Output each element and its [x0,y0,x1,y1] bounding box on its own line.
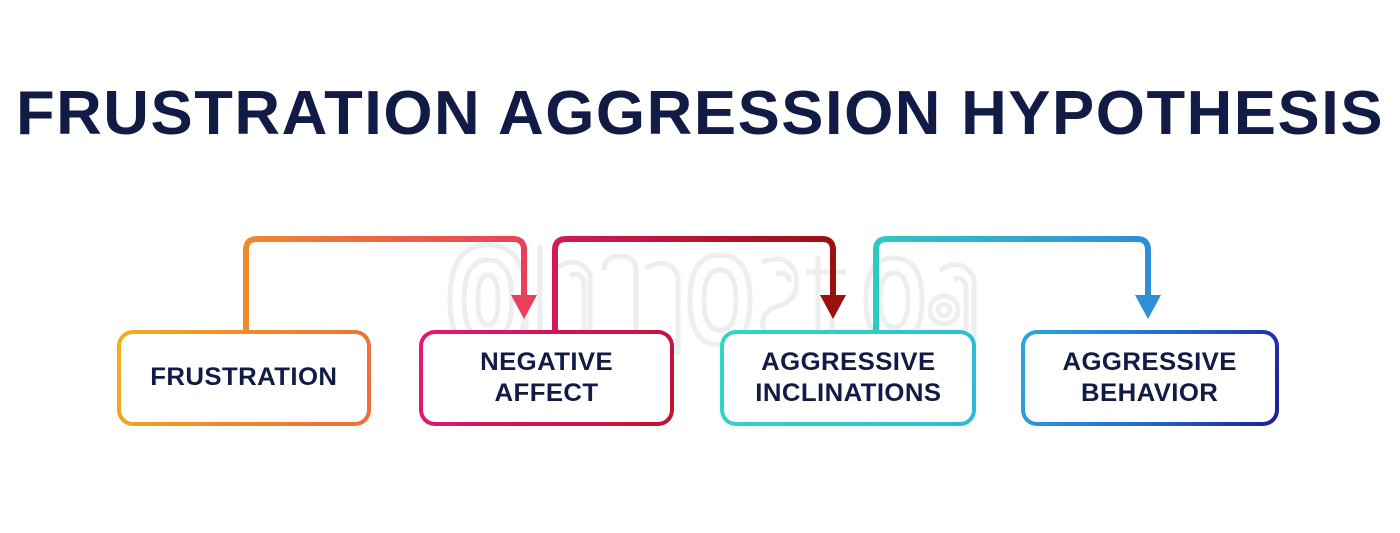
connector-frustration-to-negative-affect [246,239,537,332]
connector-layer [0,0,1400,533]
node-frustration-body: FRUSTRATION [121,334,367,422]
diagram-canvas: FRUSTRATION AGGRESSION HYPOTHESIS [0,0,1400,533]
node-negative-affect-label: NEGATIVE AFFECT [480,347,613,410]
node-aggressive-inclinations-label: AGGRESSIVE INCLINATIONS [755,347,941,410]
node-aggressive-behavior-body: AGGRESSIVE BEHAVIOR [1025,334,1275,422]
node-negative-affect[interactable]: NEGATIVE AFFECT [419,330,674,426]
connector-negative-affect-to-aggressive-inclinations [555,239,846,332]
node-negative-affect-body: NEGATIVE AFFECT [423,334,670,422]
node-frustration[interactable]: FRUSTRATION [117,330,371,426]
node-frustration-label: FRUSTRATION [150,362,337,393]
node-aggressive-inclinations-body: AGGRESSIVE INCLINATIONS [724,334,972,422]
node-aggressive-behavior[interactable]: AGGRESSIVE BEHAVIOR [1021,330,1279,426]
node-aggressive-inclinations[interactable]: AGGRESSIVE INCLINATIONS [720,330,976,426]
connector-aggressive-inclinations-to-aggressive-behavior [876,239,1161,332]
node-aggressive-behavior-label: AGGRESSIVE BEHAVIOR [1063,347,1237,410]
